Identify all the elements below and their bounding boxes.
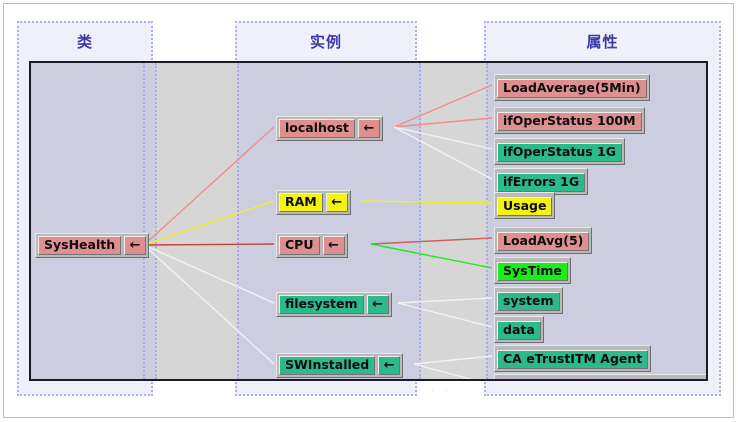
edge-localhost-to-iferrors1g [394, 127, 492, 179]
attribute-node-label: CA eTrustITM Agent [497, 350, 648, 369]
instance-node-swinstalled[interactable]: SWInstalled← [276, 353, 403, 378]
attribute-node-label: ifOperStatus 100M [497, 112, 642, 131]
attribute-node-label: ifErrors 1G [497, 173, 585, 192]
edge-ram-to-usage [361, 201, 492, 203]
instance-node-label: RAM [279, 193, 323, 212]
attribute-node-ifoperstatus100m[interactable]: ifOperStatus 100M [494, 107, 645, 134]
expand-left-arrow-icon[interactable]: ← [124, 236, 146, 255]
attribute-node-label: data [497, 321, 541, 340]
edge-syshealth-to-cpu [144, 244, 274, 245]
instance-node-label: filesystem [279, 295, 364, 314]
attribute-node-usage[interactable]: Usage [494, 192, 555, 219]
column-header-attribute: 属性 [484, 31, 721, 52]
edge-localhost-to-ifoperstatus1g [394, 127, 492, 149]
instance-node-label: localhost [279, 119, 355, 138]
attribute-node-label: Microsoft Hotfix Patch KB958644 [497, 379, 708, 381]
instance-node-label: CPU [279, 236, 320, 255]
attribute-node-system[interactable]: system [494, 287, 563, 314]
expand-left-arrow-icon[interactable]: ← [358, 119, 380, 138]
edge-localhost-to-loadaverage5min [394, 85, 492, 127]
edge-localhost-to-ifoperstatus100m [394, 118, 492, 127]
edge-swinstalled-to-mshotfix [414, 364, 492, 381]
edge-syshealth-to-localhost [144, 127, 274, 245]
edge-syshealth-to-ram [144, 201, 274, 245]
edge-swinstalled-to-caetrustitm [414, 356, 492, 364]
attribute-node-iferrors1g[interactable]: ifErrors 1G [494, 168, 588, 195]
attribute-node-label: LoadAvg(5) [497, 232, 589, 251]
watermark-text: · · · [418, 384, 450, 397]
instance-node-label: SWInstalled [279, 356, 375, 375]
instance-node-filesystem[interactable]: filesystem← [276, 292, 392, 317]
attribute-node-caetrustitm[interactable]: CA eTrustITM Agent [494, 345, 651, 372]
attribute-node-systime[interactable]: SysTime [494, 257, 571, 284]
graph-canvas[interactable]: SysHealth←localhost←RAM←CPU←filesystem←S… [29, 61, 708, 381]
expand-left-arrow-icon[interactable]: ← [323, 236, 345, 255]
class-node-label: SysHealth [38, 236, 121, 255]
attribute-node-label: ifOperStatus 1G [497, 143, 622, 162]
attribute-node-data[interactable]: data [494, 316, 544, 343]
attribute-node-loadavg5[interactable]: LoadAvg(5) [494, 227, 592, 254]
expand-left-arrow-icon[interactable]: ← [378, 356, 400, 375]
instance-node-cpu[interactable]: CPU← [276, 233, 348, 258]
relationship-graph-viewer: 类实例属性 SysHealth←localhost←RAM←CPU←filesy… [0, 0, 738, 422]
column-header-class: 类 [17, 31, 153, 52]
edge-cpu-to-systime [371, 244, 492, 268]
attribute-node-label: LoadAverage(5Min) [497, 79, 647, 98]
edge-cpu-to-loadavg5 [371, 238, 492, 244]
edge-filesystem-to-data [398, 303, 492, 327]
attribute-node-ifoperstatus1g[interactable]: ifOperStatus 1G [494, 138, 625, 165]
edge-syshealth-to-swinstalled [144, 245, 274, 364]
instance-node-ram[interactable]: RAM← [276, 190, 351, 215]
instance-node-localhost[interactable]: localhost← [276, 116, 383, 141]
column-header-instance: 实例 [235, 31, 417, 52]
attribute-node-label: SysTime [497, 262, 568, 281]
attribute-node-loadaverage5min[interactable]: LoadAverage(5Min) [494, 74, 650, 101]
attribute-node-label: system [497, 292, 560, 311]
edge-filesystem-to-system [398, 298, 492, 303]
attribute-node-mshotfix[interactable]: Microsoft Hotfix Patch KB958644 [494, 374, 708, 381]
edge-syshealth-to-filesystem [144, 245, 274, 303]
class-node-syshealth[interactable]: SysHealth← [35, 233, 149, 258]
expand-left-arrow-icon[interactable]: ← [367, 295, 389, 314]
attribute-node-label: Usage [497, 197, 552, 216]
expand-left-arrow-icon[interactable]: ← [326, 193, 348, 212]
